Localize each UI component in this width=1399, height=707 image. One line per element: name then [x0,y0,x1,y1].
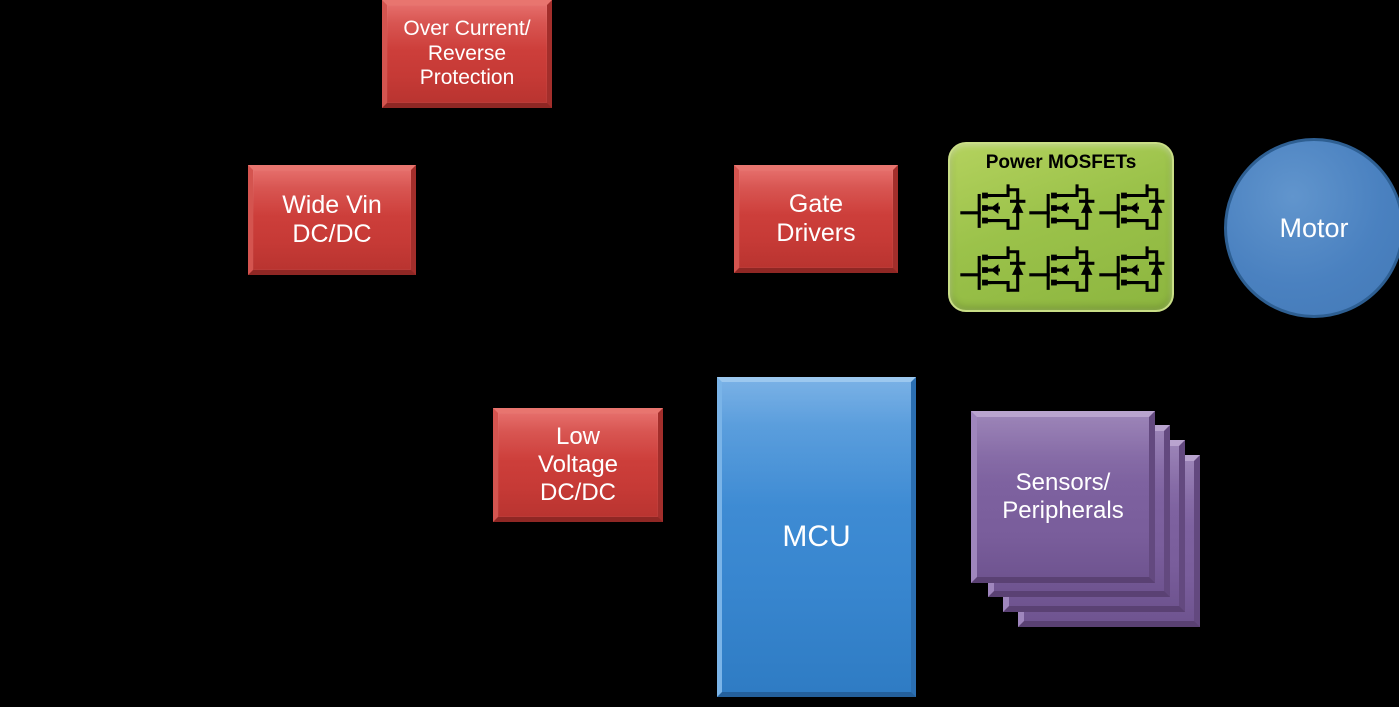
block-over-current-reverse-protection[interactable]: Over Current/ Reverse Protection [382,0,552,108]
block-label-wide-vin-dcdc: Wide Vin DC/DC [253,191,411,250]
block-label-over-current-reverse-protection: Over Current/ Reverse Protection [387,17,547,91]
text-line: Drivers [743,219,889,249]
block-gate-drivers[interactable]: Gate Drivers [734,165,898,273]
text-line: Wide Vin [257,191,407,221]
block-wide-vin-dcdc[interactable]: Wide Vin DC/DC [248,165,416,275]
text-line: Voltage [502,451,654,479]
mosfet-symbol-icon [1027,178,1096,240]
mosfet-symbol-icon [1097,178,1166,240]
block-label-sensors-peripherals: Sensors/ Peripherals [977,469,1149,526]
mosfet-symbol-icon [1027,240,1096,302]
block-low-voltage-dcdc[interactable]: Low Voltage DC/DC [493,408,663,522]
text-line: Sensors/ [981,469,1145,497]
block-label-motor: Motor [1279,213,1348,244]
block-motor[interactable]: Motor [1224,138,1399,318]
block-diagram-canvas: Over Current/ Reverse Protection Wide Vi… [0,0,1399,707]
block-label-mcu: MCU [722,519,911,554]
text-line: Peripherals [981,497,1145,525]
mosfet-symbol-icon [1097,240,1166,302]
block-label-gate-drivers: Gate Drivers [739,190,893,249]
mosfet-symbol-icon [958,240,1027,302]
block-label-low-voltage-dcdc: Low Voltage DC/DC [498,423,658,508]
mosfet-symbol-grid [958,178,1166,302]
text-line: Over Current/ [391,17,543,42]
text-line: MCU [726,519,907,554]
text-line: Reverse [391,42,543,67]
text-line: Gate [743,190,889,220]
block-mcu[interactable]: MCU [717,377,916,697]
block-label-power-mosfets: Power MOSFETs [950,152,1172,174]
block-sensors-peripherals[interactable]: Sensors/ Peripherals [971,411,1155,583]
mosfet-symbol-icon [958,178,1027,240]
text-line: Low [502,423,654,451]
block-power-mosfets[interactable]: Power MOSFETs [948,142,1174,312]
text-line: DC/DC [257,220,407,250]
text-line: Protection [391,66,543,91]
text-line: DC/DC [502,479,654,507]
